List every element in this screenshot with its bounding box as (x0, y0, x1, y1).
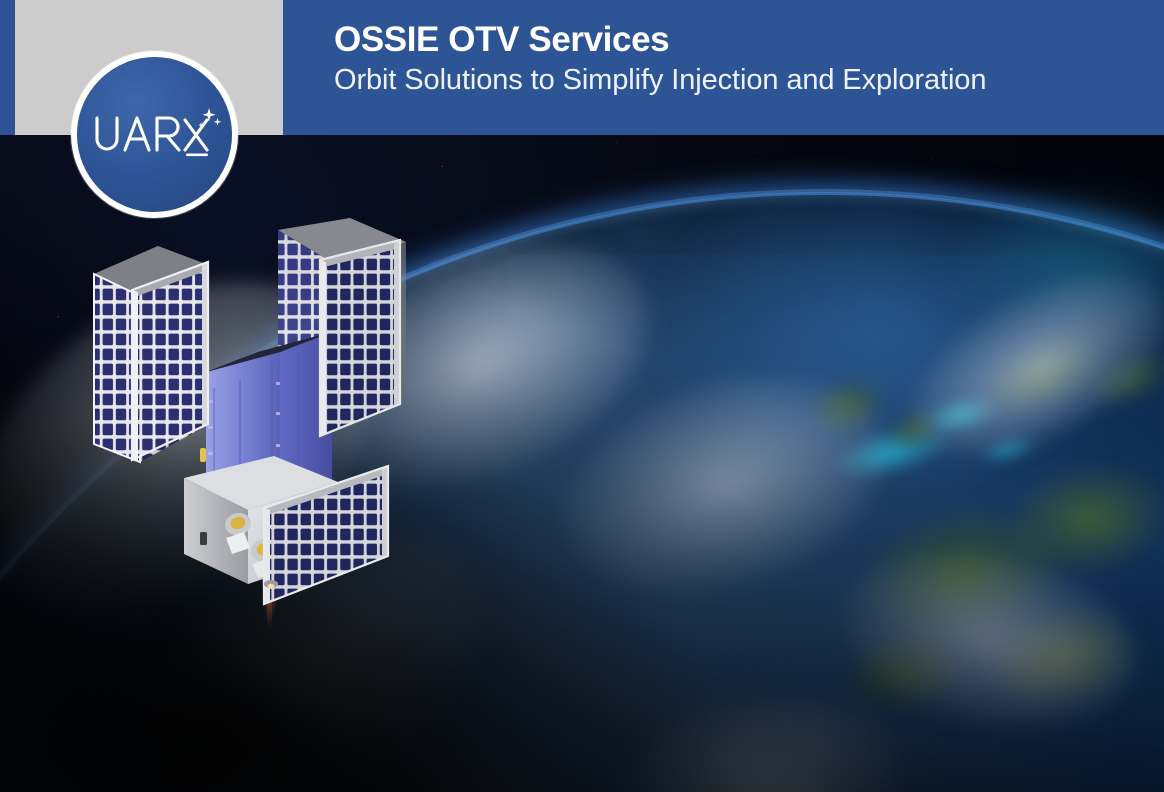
header-left-accent (0, 0, 15, 135)
sensor-port (200, 532, 207, 545)
otv-spacecraft (88, 212, 460, 632)
poster-root: OSSIE OTV Services Orbit Solutions to Si… (0, 0, 1164, 792)
page-title: OSSIE OTV Services (334, 18, 986, 62)
solar-wing-front-right (320, 240, 400, 436)
uarx-logo-icon (89, 106, 221, 164)
uarx-logo-badge[interactable] (71, 51, 238, 218)
header-title-panel: OSSIE OTV Services Orbit Solutions to Si… (283, 0, 1164, 135)
header-text-block: OSSIE OTV Services Orbit Solutions to Si… (334, 18, 986, 98)
solar-wing-front-left (132, 262, 208, 462)
logo-sparkle-group (197, 108, 221, 128)
page-subtitle: Orbit Solutions to Simplify Injection an… (334, 62, 986, 98)
logo-underline (186, 153, 208, 156)
